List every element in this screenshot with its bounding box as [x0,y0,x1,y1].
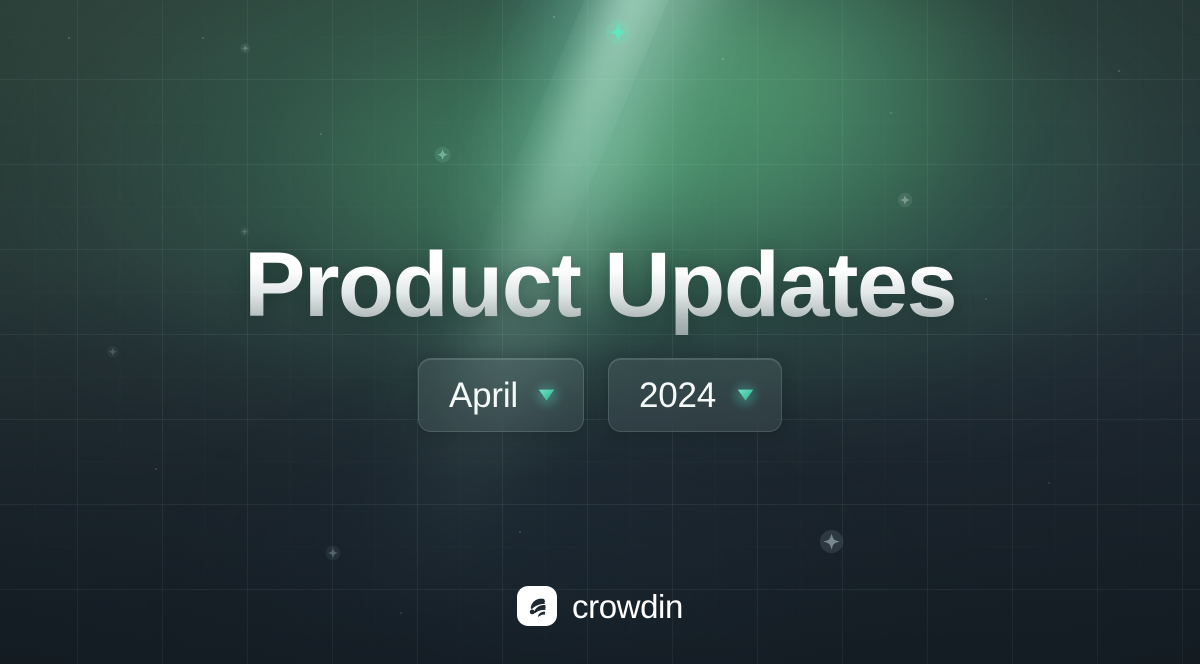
year-selector-label: 2024 [639,378,716,413]
chevron-down-icon[interactable] [532,380,562,410]
hero-banner: Product Updates April [0,0,1200,664]
month-selector-label: April [449,378,518,413]
chevron-down-icon[interactable] [730,380,760,410]
date-selector-row: April 2024 [418,358,782,432]
month-selector[interactable]: April [418,358,584,432]
page-title: Product Updates [244,236,956,335]
year-selector[interactable]: 2024 [608,358,782,432]
hero-content: Product Updates April [0,0,1200,664]
